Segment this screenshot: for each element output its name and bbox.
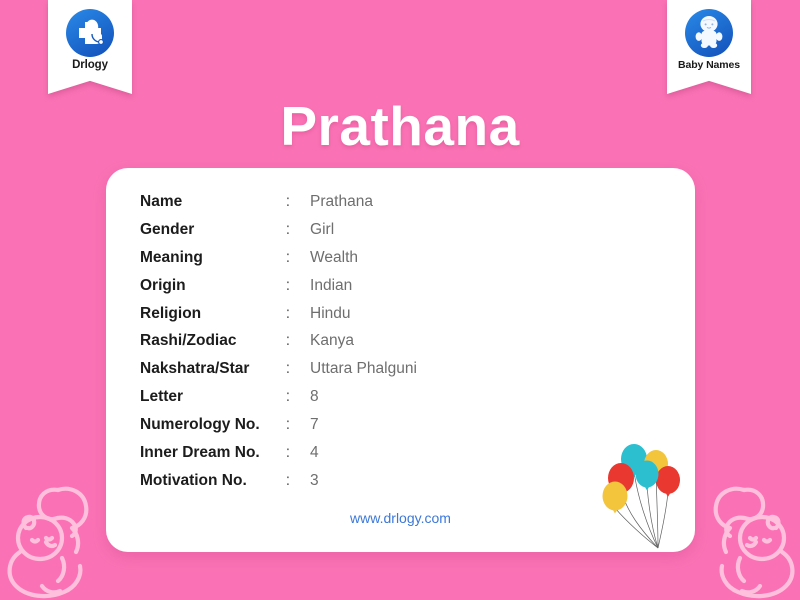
name-details-card: Name : Prathana Gender : Girl Meaning : … <box>106 168 695 552</box>
table-row: Inner Dream No. : 4 <box>140 445 417 473</box>
row-value: 8 <box>310 389 417 417</box>
row-label: Motivation No. <box>140 473 286 501</box>
row-label: Gender <box>140 222 286 250</box>
row-separator: : <box>286 333 310 361</box>
table-row: Nakshatra/Star : Uttara Phalguni <box>140 361 417 389</box>
table-row: Name : Prathana <box>140 194 417 222</box>
badge-baby-names-body: Baby Names <box>667 0 751 94</box>
row-label: Name <box>140 194 286 222</box>
table-body: Name : Prathana Gender : Girl Meaning : … <box>140 194 417 501</box>
doctor-cross-icon <box>65 8 115 58</box>
website-link[interactable]: www.drlogy.com <box>106 510 695 526</box>
mother-and-baby-icon <box>0 470 106 600</box>
mother-and-baby-icon <box>696 470 800 600</box>
row-separator: : <box>286 278 310 306</box>
name-details-table: Name : Prathana Gender : Girl Meaning : … <box>140 194 417 501</box>
row-label: Inner Dream No. <box>140 445 286 473</box>
row-value: Indian <box>310 278 417 306</box>
row-value: 7 <box>310 417 417 445</box>
row-label: Numerology No. <box>140 417 286 445</box>
row-separator: : <box>286 306 310 334</box>
baby-icon <box>684 8 734 58</box>
row-value: Girl <box>310 222 417 250</box>
badge-drlogy[interactable]: Drlogy <box>48 0 132 94</box>
decoration-mother-baby-right <box>696 470 800 600</box>
row-label: Religion <box>140 306 286 334</box>
row-separator: : <box>286 222 310 250</box>
decoration-balloons <box>601 436 693 552</box>
row-separator: : <box>286 194 310 222</box>
row-separator: : <box>286 361 310 389</box>
row-separator: : <box>286 473 310 501</box>
decoration-mother-baby-left <box>0 470 106 600</box>
table-row: Numerology No. : 7 <box>140 417 417 445</box>
table-row: Meaning : Wealth <box>140 250 417 278</box>
page-title: Prathana <box>0 99 800 154</box>
table-row: Religion : Hindu <box>140 306 417 334</box>
table-row: Origin : Indian <box>140 278 417 306</box>
row-label: Nakshatra/Star <box>140 361 286 389</box>
row-label: Meaning <box>140 250 286 278</box>
row-value: Prathana <box>310 194 417 222</box>
row-separator: : <box>286 445 310 473</box>
badge-baby-names[interactable]: Baby Names <box>667 0 751 94</box>
row-value: Wealth <box>310 250 417 278</box>
table-row: Motivation No. : 3 <box>140 473 417 501</box>
row-separator: : <box>286 389 310 417</box>
badge-drlogy-label: Drlogy <box>52 60 128 72</box>
row-label: Rashi/Zodiac <box>140 333 286 361</box>
balloons-icon <box>601 436 693 552</box>
row-label: Origin <box>140 278 286 306</box>
row-value: Kanya <box>310 333 417 361</box>
badge-baby-names-label: Baby Names <box>671 60 747 71</box>
badge-drlogy-body: Drlogy <box>48 0 132 94</box>
row-value: 4 <box>310 445 417 473</box>
row-value: Hindu <box>310 306 417 334</box>
table-row: Gender : Girl <box>140 222 417 250</box>
row-value: Uttara Phalguni <box>310 361 417 389</box>
row-value: 3 <box>310 473 417 501</box>
table-row: Letter : 8 <box>140 389 417 417</box>
row-separator: : <box>286 417 310 445</box>
row-separator: : <box>286 250 310 278</box>
row-label: Letter <box>140 389 286 417</box>
table-row: Rashi/Zodiac : Kanya <box>140 333 417 361</box>
